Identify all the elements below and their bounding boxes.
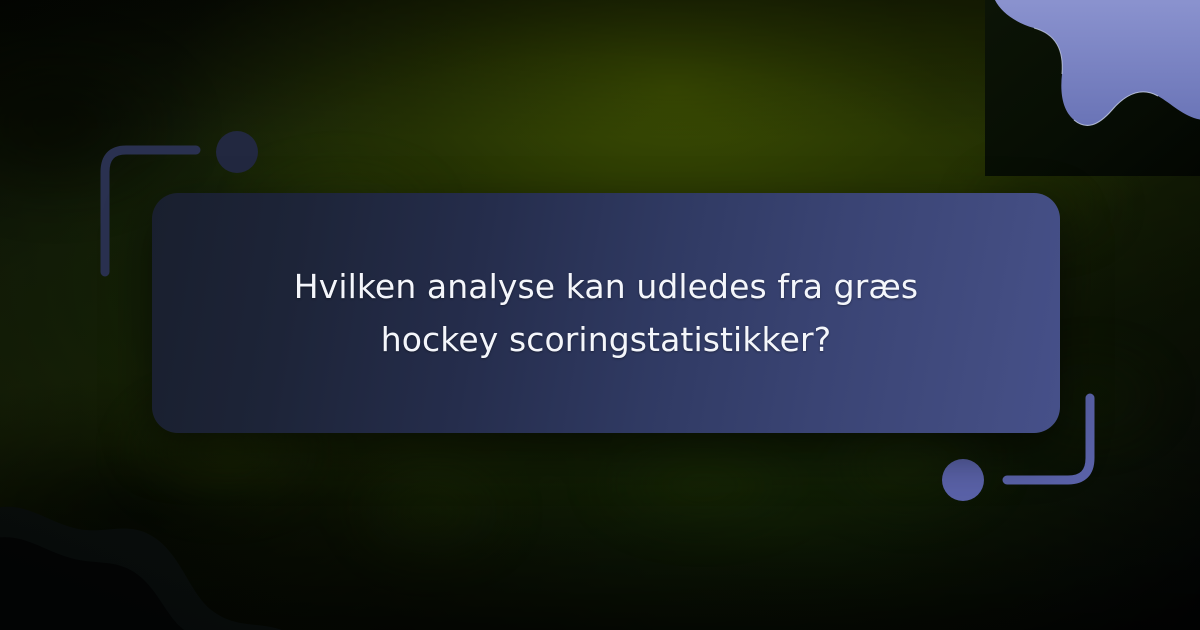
social-card-canvas: Hvilken analyse kan udledes fra græs hoc… — [0, 0, 1200, 630]
question-text: Hvilken analyse kan udledes fra græs hoc… — [230, 260, 982, 367]
question-card: Hvilken analyse kan udledes fra græs hoc… — [152, 193, 1060, 433]
